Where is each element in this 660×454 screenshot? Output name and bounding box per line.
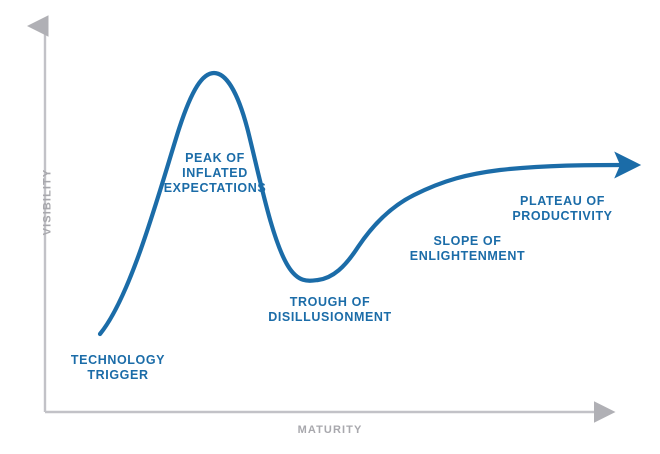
stage-label-line: EXPECTATIONS [135, 181, 295, 196]
stage-label-line: INFLATED [135, 166, 295, 181]
stage-label-line: TECHNOLOGY [48, 353, 188, 368]
stage-label-plateau-productivity: PLATEAU OF PRODUCTIVITY [495, 194, 630, 224]
hype-cycle-graphic [0, 0, 660, 454]
hype-cycle-chart: VISIBILITY MATURITY TECHNOLOGY TRIGGER P… [0, 0, 660, 454]
y-axis-title: VISIBILITY [41, 169, 53, 236]
stage-label-line: ENLIGHTENMENT [395, 249, 540, 264]
stage-label-line: DISILLUSIONMENT [250, 310, 410, 325]
stage-label-line: SLOPE OF [395, 234, 540, 249]
stage-label-line: PRODUCTIVITY [495, 209, 630, 224]
stage-label-peak-inflated-expectations: PEAK OF INFLATED EXPECTATIONS [135, 151, 295, 196]
stage-label-line: PEAK OF [135, 151, 295, 166]
stage-label-line: TRIGGER [48, 368, 188, 383]
stage-label-line: PLATEAU OF [495, 194, 630, 209]
stage-label-slope-enlightenment: SLOPE OF ENLIGHTENMENT [395, 234, 540, 264]
stage-label-technology-trigger: TECHNOLOGY TRIGGER [48, 353, 188, 383]
stage-label-line: TROUGH OF [250, 295, 410, 310]
stage-label-trough-disillusionment: TROUGH OF DISILLUSIONMENT [250, 295, 410, 325]
x-axis-title: MATURITY [0, 424, 660, 436]
